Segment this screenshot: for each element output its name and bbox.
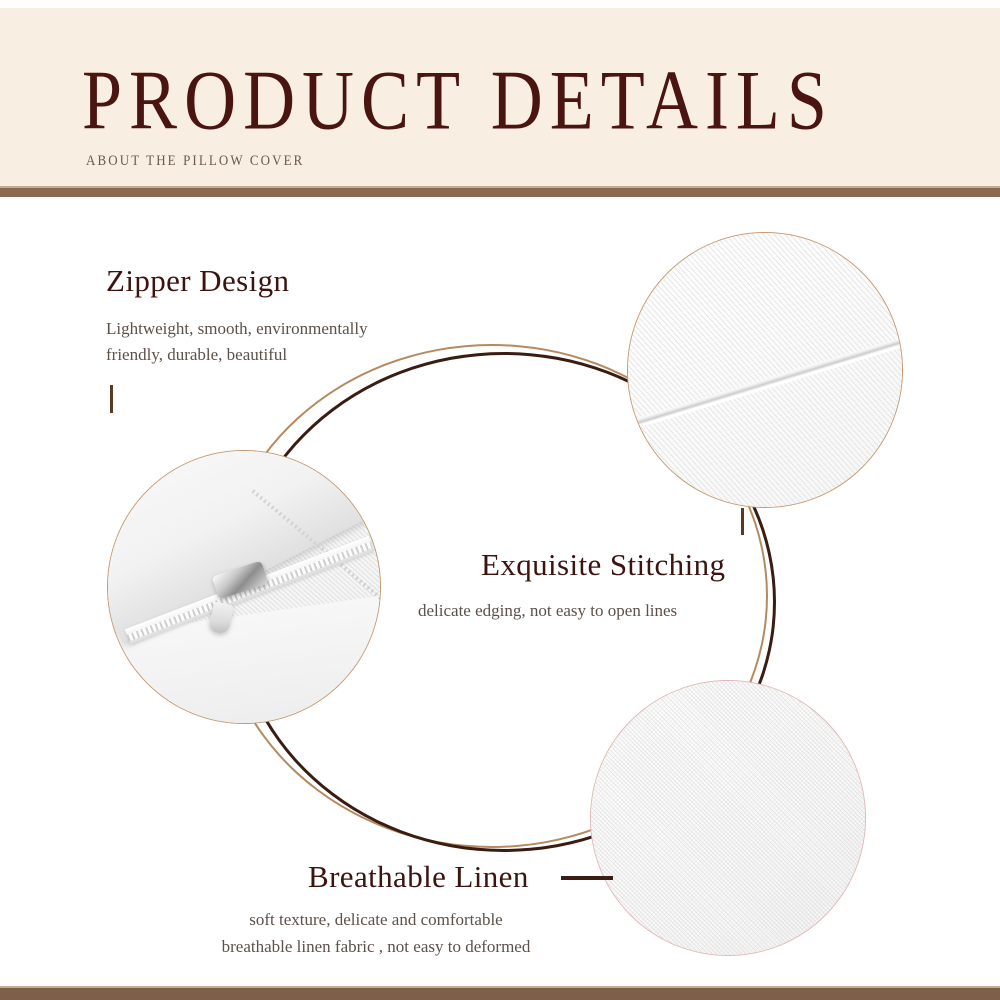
linen-connector-dash [561,876,613,880]
page-subtitle: ABOUT THE PILLOW COVER [86,152,304,170]
feature-body-linen: soft texture, delicate and comfortable b… [186,906,566,960]
linen-weave-texture [590,680,866,956]
feature-title-linen: Breathable Linen [308,858,529,896]
zipper-photo-circle [107,450,381,724]
linen-photo-circle [590,680,866,956]
stitching-photo-image [628,233,902,507]
feature-title-zipper: Zipper Design [106,262,289,300]
stitching-photo-circle [627,232,903,508]
product-details-page: PRODUCT DETAILS ABOUT THE PILLOW COVER [0,0,1000,1000]
header-divider-rule [0,186,1000,197]
feature-body-zipper: Lightweight, smooth, environmentally fri… [106,316,486,368]
feature-body-line: Lightweight, smooth, environmentally [106,316,486,342]
fabric-weave-texture [627,232,903,508]
linen-photo-image [591,681,865,955]
tick-mark-zipper [110,385,113,413]
tick-mark-stitching [741,508,744,535]
bottom-frame-rule [0,986,1000,1000]
page-title: PRODUCT DETAILS [82,52,942,149]
feature-body-line: soft texture, delicate and comfortable [186,906,566,933]
zipper-photo-image [108,451,380,723]
feature-body-stitching: delicate edging, not easy to open lines [418,598,778,624]
feature-title-stitching: Exquisite Stitching [481,546,725,584]
feature-body-line: breathable linen fabric , not easy to de… [186,933,566,960]
feature-body-line: friendly, durable, beautiful [106,342,486,368]
